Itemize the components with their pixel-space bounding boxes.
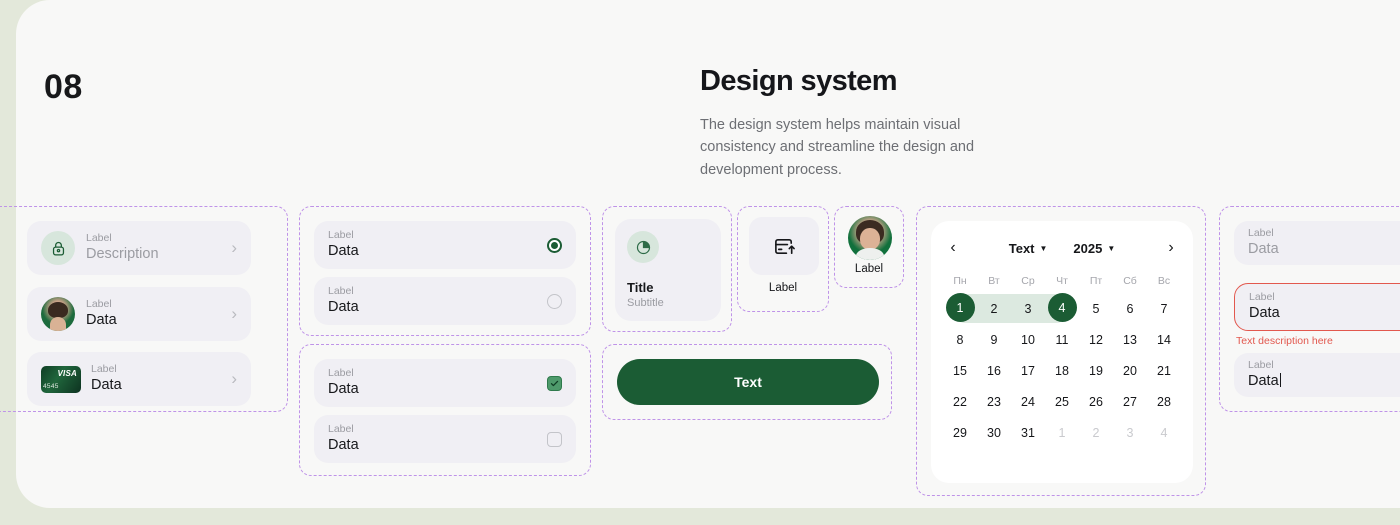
list-item-label: Label <box>86 232 159 245</box>
card-brand: VISA <box>58 369 77 378</box>
calendar-weekday: Пн <box>943 275 977 287</box>
calendar-day[interactable]: 20 <box>1113 355 1147 386</box>
text-field-value: Data <box>1248 372 1281 391</box>
primary-button[interactable]: Text <box>617 359 879 405</box>
checkbox-checked[interactable] <box>547 376 562 391</box>
slide-page: 08 Design system The design system helps… <box>0 0 1400 525</box>
calendar-day[interactable]: 22 <box>943 386 977 417</box>
text-field-value: Data <box>1248 240 1279 259</box>
calendar-day[interactable]: 23 <box>977 386 1011 417</box>
calendar-day[interactable]: 12 <box>1079 324 1113 355</box>
content-sheet: 08 Design system The design system helps… <box>16 0 1400 508</box>
calendar-day[interactable]: 19 <box>1079 355 1113 386</box>
calendar-day[interactable]: 13 <box>1113 324 1147 355</box>
calendar-weekday: Чт <box>1045 275 1079 287</box>
calendar-year-select[interactable]: 2025 ▼ <box>1073 241 1115 256</box>
calendar-day[interactable]: 4 <box>1147 417 1181 448</box>
radio-button-unselected[interactable] <box>547 294 562 309</box>
chevron-left-icon[interactable]: ‹ <box>943 239 963 257</box>
calendar-day[interactable]: 7 <box>1147 293 1181 324</box>
avatar[interactable] <box>848 216 892 260</box>
text-field-focused[interactable]: Label Data <box>1234 353 1400 397</box>
calendar: ‹ Text ▼ 2025 ▼ › ПнВтСрЧтПтСбВс <box>931 221 1193 483</box>
calendar-frame: ‹ Text ▼ 2025 ▼ › ПнВтСрЧтПтСбВс <box>916 206 1206 496</box>
title-card[interactable]: Title Subtitle <box>615 219 721 321</box>
radio-option[interactable]: Label Data <box>314 277 576 325</box>
calendar-weekday-row: ПнВтСрЧтПтСбВс <box>943 275 1181 287</box>
calendar-day[interactable]: 3 <box>1113 417 1147 448</box>
text-field-value: Data <box>1249 304 1400 323</box>
calendar-day[interactable]: 27 <box>1113 386 1147 417</box>
calendar-day[interactable]: 3 <box>1011 293 1045 324</box>
upload-tile-frame: Label <box>737 206 829 312</box>
radio-button-selected[interactable] <box>547 238 562 253</box>
calendar-weekday: Сб <box>1113 275 1147 287</box>
radio-option-value: Data <box>328 298 359 317</box>
list-item-value: Data <box>86 311 117 330</box>
list-item[interactable]: Label Description › <box>27 221 251 275</box>
calendar-day[interactable]: 24 <box>1011 386 1045 417</box>
form-frame: Label Data Label Data Text description h… <box>1219 206 1400 412</box>
lock-icon <box>41 231 75 265</box>
card-upload-icon[interactable] <box>749 217 819 275</box>
upload-tile-label: Label <box>738 282 828 294</box>
text-field-label: Label <box>1248 359 1274 372</box>
checkbox-unchecked[interactable] <box>547 432 562 447</box>
chevron-right-icon[interactable]: › <box>1161 239 1181 257</box>
text-field-label: Label <box>1249 291 1400 304</box>
list-item-label: Label <box>91 363 122 376</box>
calendar-day[interactable]: 26 <box>1079 386 1113 417</box>
checkbox-option[interactable]: Label Data <box>314 415 576 463</box>
page-description: The design system helps maintain visual … <box>700 114 975 181</box>
calendar-day[interactable]: 21 <box>1147 355 1181 386</box>
calendar-weekday: Вт <box>977 275 1011 287</box>
list-item[interactable]: VISA 4545 Label Data › <box>27 352 251 406</box>
chevron-down-icon: ▼ <box>1107 244 1115 253</box>
text-field-error[interactable]: Label Data <box>1234 283 1400 331</box>
list-item-value: Description <box>86 245 159 264</box>
chevron-right-icon[interactable]: › <box>231 369 237 389</box>
radio-option-label: Label <box>328 285 359 298</box>
avatar-tile-label: Label <box>835 263 903 275</box>
calendar-day[interactable]: 1 <box>1045 417 1079 448</box>
calendar-day[interactable]: 14 <box>1147 324 1181 355</box>
primary-button-frame: Text <box>602 344 892 420</box>
text-field-label: Label <box>1248 227 1274 240</box>
list-item-label: Label <box>86 298 117 311</box>
list-item[interactable]: Label Data › <box>27 287 251 341</box>
calendar-day[interactable]: 1 <box>946 293 975 322</box>
title-card-title: Title <box>627 280 709 295</box>
calendar-day[interactable]: 18 <box>1045 355 1079 386</box>
calendar-day[interactable]: 2 <box>977 293 1011 324</box>
calendar-day[interactable]: 15 <box>943 355 977 386</box>
calendar-month-label: Text <box>1009 241 1035 256</box>
calendar-weekday: Ср <box>1011 275 1045 287</box>
chevron-down-icon: ▼ <box>1040 244 1048 253</box>
calendar-day[interactable]: 6 <box>1113 293 1147 324</box>
chevron-right-icon[interactable]: › <box>231 304 237 324</box>
checkbox-option-label: Label <box>328 367 359 380</box>
calendar-day[interactable]: 17 <box>1011 355 1045 386</box>
title-card-subtitle: Subtitle <box>627 297 709 309</box>
calendar-day[interactable]: 29 <box>943 417 977 448</box>
calendar-header: ‹ Text ▼ 2025 ▼ › <box>943 235 1181 261</box>
radio-option-value: Data <box>328 242 359 261</box>
calendar-day[interactable]: 30 <box>977 417 1011 448</box>
avatar <box>41 297 75 331</box>
card-digits: 4545 <box>43 383 59 390</box>
calendar-weekday: Пт <box>1079 275 1113 287</box>
calendar-day-grid: 1234567891011121314151617181920212223242… <box>943 293 1181 448</box>
calendar-day[interactable]: 4 <box>1048 293 1077 322</box>
calendar-day[interactable]: 25 <box>1045 386 1079 417</box>
calendar-day[interactable]: 16 <box>977 355 1011 386</box>
list-card-frame: Label Description › Label Data › VISA 45… <box>0 206 288 412</box>
calendar-day[interactable]: 10 <box>1011 324 1045 355</box>
calendar-day[interactable]: 11 <box>1045 324 1079 355</box>
calendar-day[interactable]: 2 <box>1079 417 1113 448</box>
visa-card-icon: VISA 4545 <box>41 366 81 393</box>
radio-group-frame: Label Data Label Data <box>299 206 591 336</box>
calendar-day[interactable]: 28 <box>1147 386 1181 417</box>
chevron-right-icon[interactable]: › <box>231 238 237 258</box>
radio-option[interactable]: Label Data <box>314 221 576 269</box>
checkbox-option-label: Label <box>328 423 359 436</box>
calendar-month-select[interactable]: Text ▼ <box>1009 241 1048 256</box>
header-block: Design system The design system helps ma… <box>700 66 1000 181</box>
radio-option-label: Label <box>328 229 359 242</box>
calendar-day[interactable]: 9 <box>977 324 1011 355</box>
text-cursor <box>1280 373 1282 387</box>
checkbox-group-frame: Label Data Label Data <box>299 344 591 476</box>
calendar-day[interactable]: 5 <box>1079 293 1113 324</box>
pie-chart-icon <box>627 231 659 263</box>
error-message: Text description here <box>1236 335 1333 347</box>
list-item-value: Data <box>91 376 122 395</box>
avatar-tile-frame: Label <box>834 206 904 288</box>
slide-number: 08 <box>44 68 83 107</box>
title-card-frame: Title Subtitle <box>602 206 732 332</box>
calendar-day[interactable]: 31 <box>1011 417 1045 448</box>
checkbox-option-value: Data <box>328 380 359 399</box>
calendar-weekday: Вс <box>1147 275 1181 287</box>
text-field[interactable]: Label Data <box>1234 221 1400 265</box>
checkbox-option-value: Data <box>328 436 359 455</box>
calendar-year-label: 2025 <box>1073 241 1102 256</box>
checkbox-option[interactable]: Label Data <box>314 359 576 407</box>
calendar-day[interactable]: 8 <box>943 324 977 355</box>
page-title: Design system <box>700 66 1000 98</box>
